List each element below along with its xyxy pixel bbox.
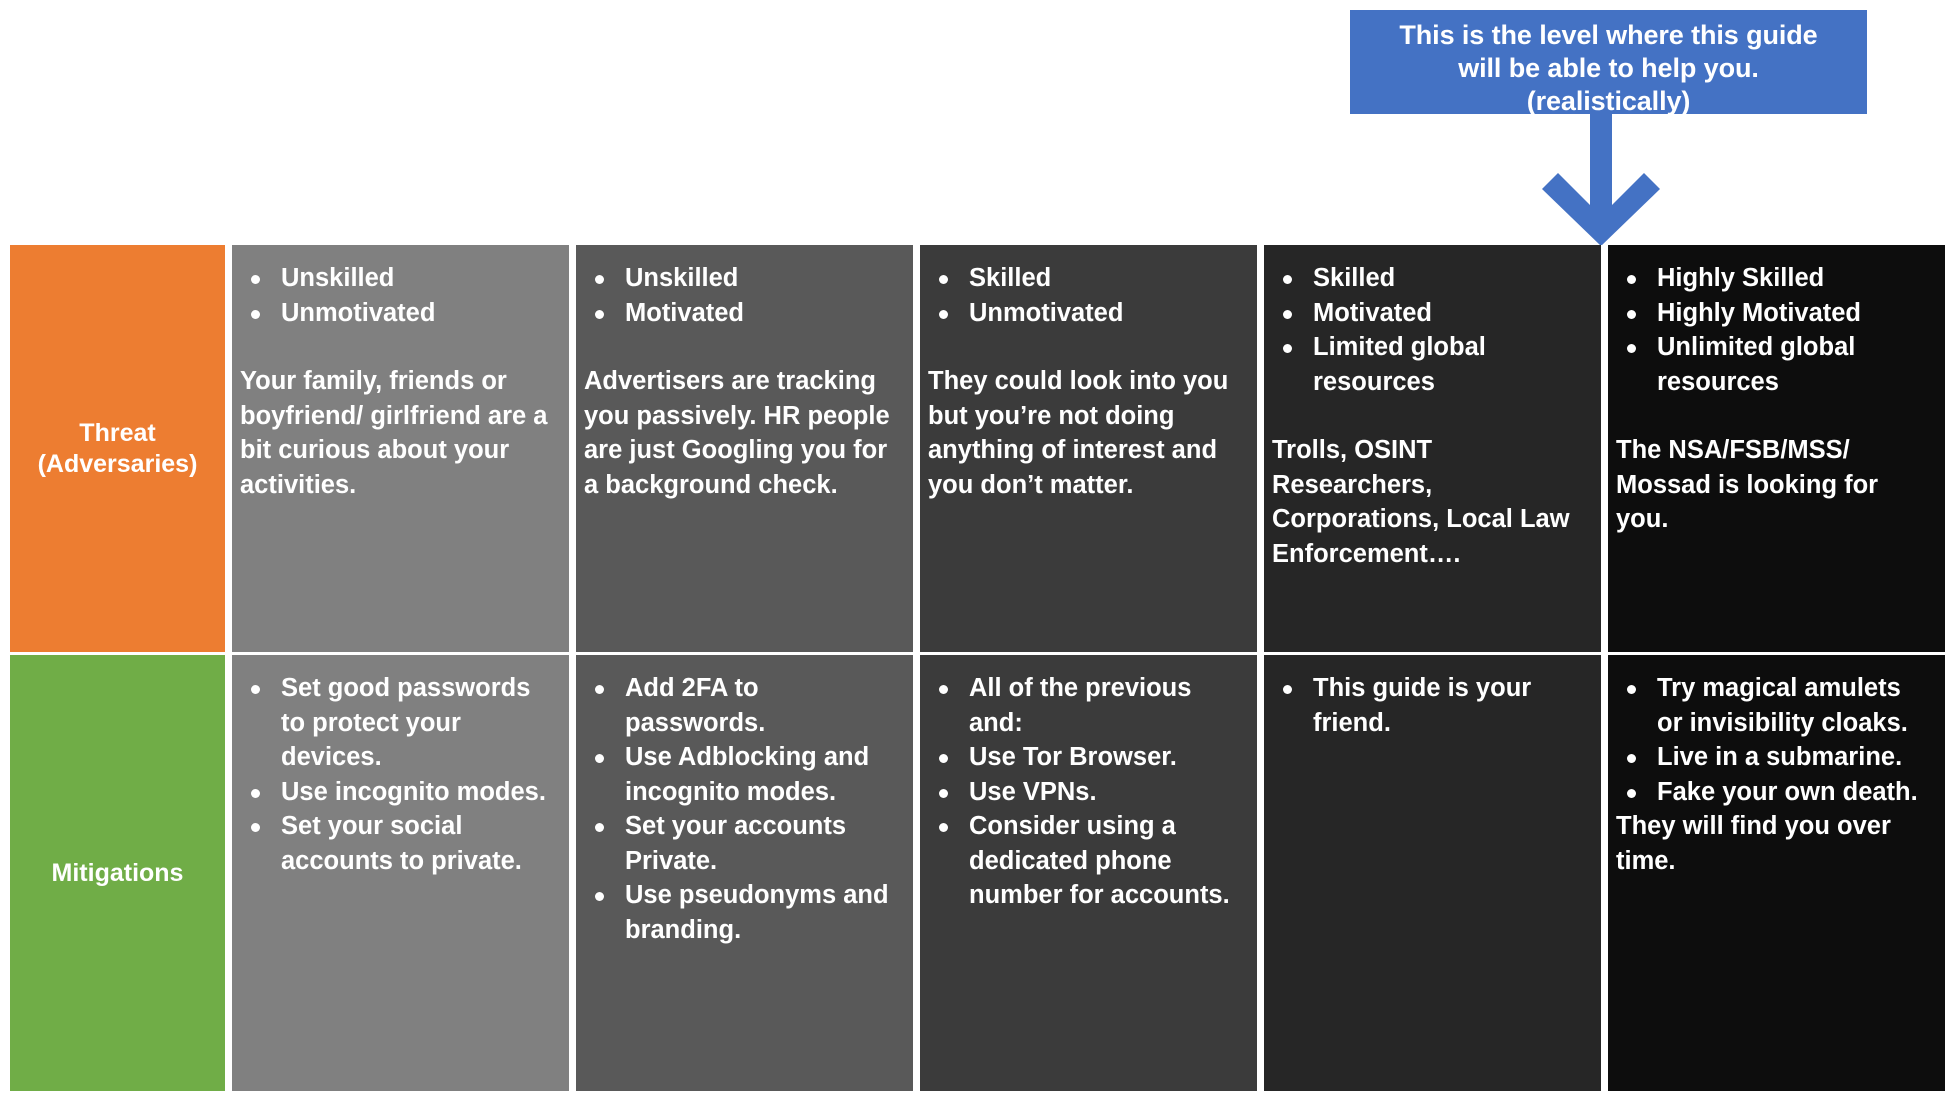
mitigation-cell-level-5: Try magical amulets or invisibility cloa… bbox=[1608, 655, 1945, 1091]
list-item: Highly Motivated bbox=[1616, 296, 1933, 331]
threat-matrix-table: Threat (Adversaries) Unskilled Unmotivat… bbox=[10, 245, 1945, 1088]
spacer bbox=[584, 330, 901, 364]
mitigation-paragraph-5: They will find you over time. bbox=[1616, 809, 1933, 878]
threat-paragraph-5: The NSA/FSB/MSS/ Mossad is looking for y… bbox=[1616, 433, 1933, 537]
mitigation-bullets-5: Try magical amulets or invisibility cloa… bbox=[1616, 671, 1933, 809]
list-item: Try magical amulets or invisibility cloa… bbox=[1616, 671, 1933, 740]
list-item: Live in a submarine. bbox=[1616, 740, 1933, 775]
row-header-mitigations: Mitigations bbox=[10, 655, 225, 1091]
spacer bbox=[928, 330, 1245, 364]
mitigation-bullets-1: Set good passwords to protect your devic… bbox=[240, 671, 557, 878]
row-header-threat: Threat (Adversaries) bbox=[10, 245, 225, 652]
threat-paragraph-1: Your family, friends or boyfriend/ girlf… bbox=[240, 364, 557, 502]
threat-cell-level-3: Skilled Unmotivated They could look into… bbox=[920, 245, 1257, 652]
callout-line-1: This is the level where this guide bbox=[1360, 19, 1857, 52]
row-header-threat-line-1: Threat bbox=[38, 418, 198, 449]
mitigation-bullets-4: This guide is your friend. bbox=[1272, 671, 1589, 740]
list-item: Limited global resources bbox=[1272, 330, 1589, 399]
mitigation-bullets-2: Add 2FA to passwords. Use Adblocking and… bbox=[584, 671, 901, 947]
list-item: Use pseudonyms and branding. bbox=[584, 878, 901, 947]
threat-bullets-4: Skilled Motivated Limited global resourc… bbox=[1272, 261, 1589, 399]
threat-cell-level-4: Skilled Motivated Limited global resourc… bbox=[1264, 245, 1601, 652]
list-item: Consider using a dedicated phone number … bbox=[928, 809, 1245, 913]
spacer bbox=[240, 330, 557, 364]
threat-paragraph-4: Trolls, OSINT Researchers, Corporations,… bbox=[1272, 433, 1589, 571]
threat-bullets-3: Skilled Unmotivated bbox=[928, 261, 1245, 330]
threat-bullets-5: Highly Skilled Highly Motivated Unlimite… bbox=[1616, 261, 1933, 399]
spacer bbox=[1272, 399, 1589, 433]
list-item: Use Tor Browser. bbox=[928, 740, 1245, 775]
mitigation-cell-level-3: All of the previous and: Use Tor Browser… bbox=[920, 655, 1257, 1091]
threat-cell-level-5: Highly Skilled Highly Motivated Unlimite… bbox=[1608, 245, 1945, 652]
threat-paragraph-2: Advertisers are tracking you passively. … bbox=[584, 364, 901, 502]
list-item: Skilled bbox=[1272, 261, 1589, 296]
list-item: Set your accounts Private. bbox=[584, 809, 901, 878]
threat-paragraph-3: They could look into you but you’re not … bbox=[928, 364, 1245, 502]
list-item: Unskilled bbox=[584, 261, 901, 296]
list-item: Unlimited global resources bbox=[1616, 330, 1933, 399]
list-item: Use VPNs. bbox=[928, 775, 1245, 810]
row-header-mitigations-line-1: Mitigations bbox=[52, 858, 184, 889]
list-item: Motivated bbox=[1272, 296, 1589, 331]
list-item: Unmotivated bbox=[928, 296, 1245, 331]
list-item: This guide is your friend. bbox=[1272, 671, 1589, 740]
guide-level-callout: This is the level where this guide will … bbox=[1350, 10, 1867, 114]
list-item: Unskilled bbox=[240, 261, 557, 296]
row-header-threat-line-2: (Adversaries) bbox=[38, 449, 198, 480]
list-item: Set good passwords to protect your devic… bbox=[240, 671, 557, 775]
list-item: All of the previous and: bbox=[928, 671, 1245, 740]
list-item: Motivated bbox=[584, 296, 901, 331]
threat-model-matrix-page: This is the level where this guide will … bbox=[0, 0, 1958, 1096]
list-item: Highly Skilled bbox=[1616, 261, 1933, 296]
list-item: Skilled bbox=[928, 261, 1245, 296]
list-item: Add 2FA to passwords. bbox=[584, 671, 901, 740]
list-item: Use Adblocking and incognito modes. bbox=[584, 740, 901, 809]
threat-bullets-1: Unskilled Unmotivated bbox=[240, 261, 557, 330]
threat-bullets-2: Unskilled Motivated bbox=[584, 261, 901, 330]
spacer bbox=[1616, 399, 1933, 433]
callout-line-2: will be able to help you. bbox=[1360, 52, 1857, 85]
mitigation-cell-level-2: Add 2FA to passwords. Use Adblocking and… bbox=[576, 655, 913, 1091]
mitigation-bullets-3: All of the previous and: Use Tor Browser… bbox=[928, 671, 1245, 913]
threat-cell-level-2: Unskilled Motivated Advertisers are trac… bbox=[576, 245, 913, 652]
arrow-down-icon bbox=[1540, 113, 1662, 246]
mitigation-cell-level-1: Set good passwords to protect your devic… bbox=[232, 655, 569, 1091]
list-item: Fake your own death. bbox=[1616, 775, 1933, 810]
list-item: Use incognito modes. bbox=[240, 775, 557, 810]
mitigation-cell-level-4: This guide is your friend. bbox=[1264, 655, 1601, 1091]
list-item: Set your social accounts to private. bbox=[240, 809, 557, 878]
list-item: Unmotivated bbox=[240, 296, 557, 331]
threat-cell-level-1: Unskilled Unmotivated Your family, frien… bbox=[232, 245, 569, 652]
